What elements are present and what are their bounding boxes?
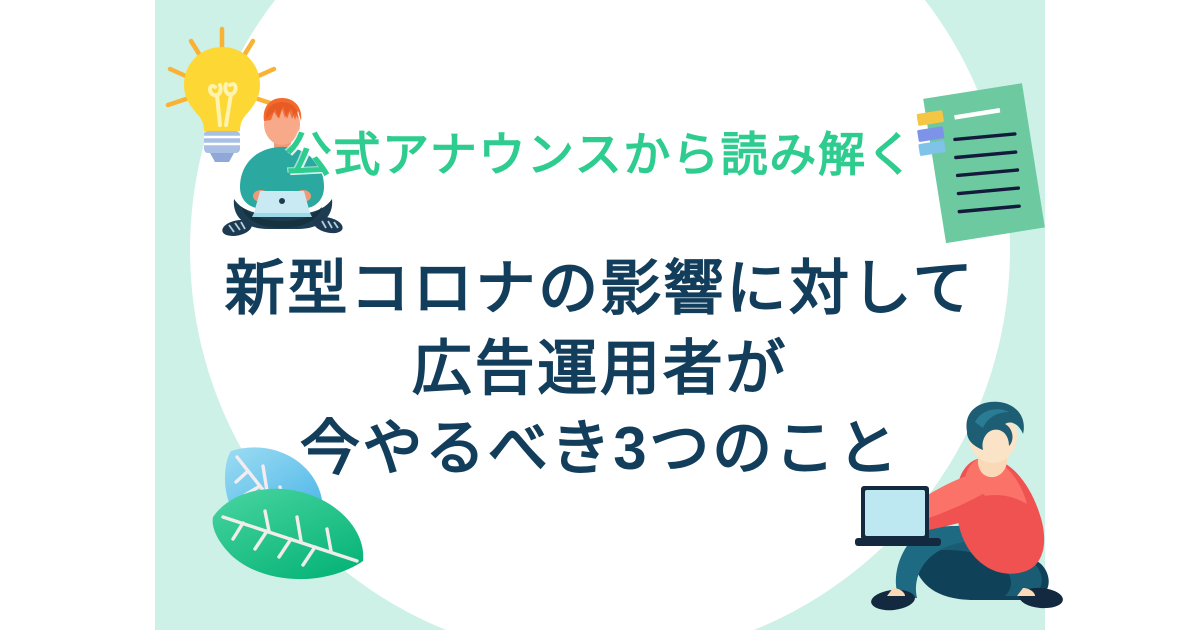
kneeling-person-laptop-illustration — [855, 400, 1080, 628]
leaves-illustration — [205, 425, 395, 600]
worker-laptop-icon — [855, 486, 941, 546]
document-page — [923, 83, 1045, 243]
leaf-green — [213, 489, 364, 579]
seated-person-laptop-illustration — [212, 95, 352, 240]
sitter-laptop-icon — [252, 191, 312, 217]
document-illustration — [918, 78, 1053, 248]
ogp-banner: 公式アナウンスから読み解く 新型コロナの影響に対して 広告運用者が 今やるべき3… — [0, 0, 1200, 630]
